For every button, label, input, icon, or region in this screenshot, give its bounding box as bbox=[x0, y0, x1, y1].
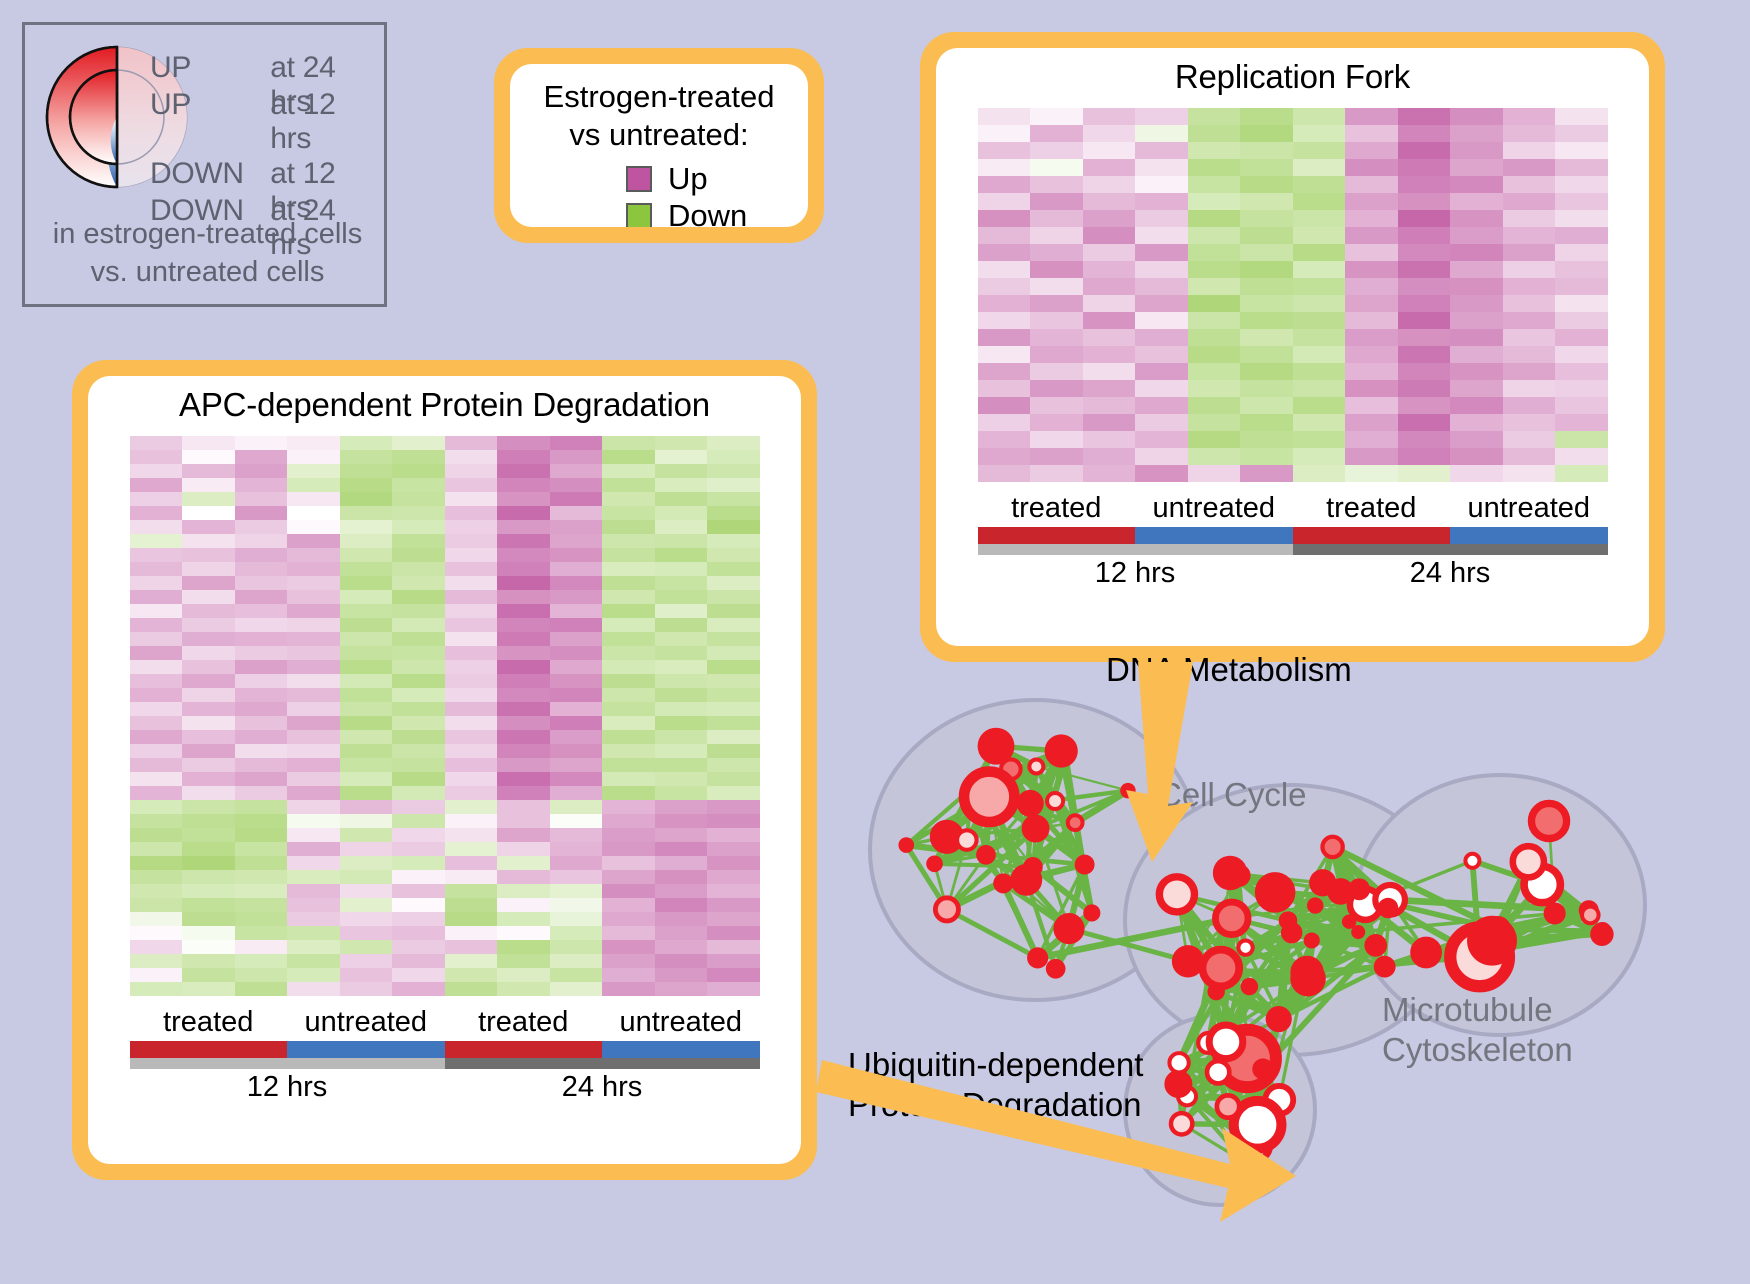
sample-label: untreated bbox=[287, 1006, 445, 1039]
heatmap-column bbox=[550, 436, 603, 996]
heatmap-cell bbox=[1345, 176, 1398, 193]
network-node[interactable] bbox=[1083, 904, 1100, 921]
heatmap-cell bbox=[602, 464, 655, 478]
heatmap-cell bbox=[1188, 465, 1241, 482]
network-node[interactable] bbox=[1378, 898, 1398, 918]
sample-label: treated bbox=[130, 1006, 288, 1039]
heatmap-cell bbox=[1398, 159, 1451, 176]
heatmap-cell bbox=[182, 730, 235, 744]
treatment-bar bbox=[1450, 527, 1608, 544]
heatmap-cell bbox=[550, 730, 603, 744]
heatmap-cell bbox=[1083, 193, 1136, 210]
network-node[interactable] bbox=[1307, 897, 1323, 913]
network-node[interactable] bbox=[1413, 939, 1439, 965]
heatmap-cell bbox=[550, 744, 603, 758]
network-node[interactable] bbox=[1167, 1072, 1190, 1095]
heatmap-cell bbox=[235, 632, 288, 646]
heatmap-cell bbox=[1030, 448, 1083, 465]
heatmap-cell bbox=[1555, 465, 1608, 482]
heatmap-cell bbox=[1188, 346, 1241, 363]
heatmap-cell bbox=[392, 646, 445, 660]
heatmap-cell bbox=[497, 688, 550, 702]
heatmap-cell bbox=[340, 562, 393, 576]
network-node[interactable] bbox=[898, 837, 914, 853]
heatmap-column bbox=[1555, 108, 1608, 482]
heatmap-cell bbox=[235, 548, 288, 562]
heatmap-cell bbox=[445, 744, 498, 758]
heatmap-cell bbox=[550, 646, 603, 660]
network-node[interactable] bbox=[1342, 914, 1356, 928]
heatmap-column bbox=[1293, 108, 1346, 482]
heatmap-cell bbox=[1083, 278, 1136, 295]
heatmap-cell bbox=[445, 702, 498, 716]
heatmap-cell bbox=[130, 898, 183, 912]
heatmap-cell bbox=[235, 772, 288, 786]
heatmap-cell bbox=[1503, 431, 1556, 448]
network-node[interactable] bbox=[1022, 815, 1050, 843]
heatmap-cell bbox=[287, 464, 340, 478]
heatmap-cell bbox=[550, 660, 603, 674]
heatmap-cell bbox=[1555, 448, 1608, 465]
heatmap-cell bbox=[340, 968, 393, 982]
apc-treatment-bars bbox=[130, 1041, 760, 1058]
heatmap-cell bbox=[1398, 346, 1451, 363]
network-node[interactable] bbox=[1053, 913, 1084, 944]
heatmap-cell bbox=[182, 800, 235, 814]
heatmap-cell bbox=[550, 436, 603, 450]
network-node[interactable] bbox=[1019, 792, 1041, 814]
heatmap-cell bbox=[497, 478, 550, 492]
network-node[interactable] bbox=[1209, 1025, 1243, 1059]
network-node[interactable] bbox=[1217, 1095, 1239, 1117]
heatmap-cell bbox=[287, 660, 340, 674]
heatmap-cell bbox=[550, 534, 603, 548]
heatmap-cell bbox=[130, 576, 183, 590]
heatmap-cell bbox=[1555, 210, 1608, 227]
heatmap-cell bbox=[1188, 363, 1241, 380]
heatmap-cell bbox=[287, 688, 340, 702]
heatmap-cell bbox=[1083, 244, 1136, 261]
heatmap-cell bbox=[1240, 125, 1293, 142]
heatmap-cell bbox=[1083, 346, 1136, 363]
network-node[interactable] bbox=[1590, 923, 1613, 946]
network-node[interactable] bbox=[1171, 1113, 1192, 1134]
heatmap-cell bbox=[602, 954, 655, 968]
heatmap-cell bbox=[392, 814, 445, 828]
heatmap-cell bbox=[1345, 380, 1398, 397]
heatmap-cell bbox=[1135, 465, 1188, 482]
heatmap-cell bbox=[1083, 159, 1136, 176]
heatmap-cell bbox=[1555, 363, 1608, 380]
network-node[interactable] bbox=[1023, 857, 1043, 877]
heatmap-cell bbox=[655, 898, 708, 912]
key-word-up-12: UP bbox=[150, 88, 270, 122]
network-node-circle bbox=[1364, 934, 1387, 957]
heatmap-cell bbox=[392, 982, 445, 996]
heatmap-cell bbox=[392, 800, 445, 814]
heatmap-cell bbox=[550, 940, 603, 954]
heatmap-cell bbox=[182, 534, 235, 548]
heatmap-cell bbox=[287, 954, 340, 968]
heatmap-cell bbox=[497, 562, 550, 576]
heatmap-cell bbox=[235, 982, 288, 996]
network-node[interactable] bbox=[1077, 857, 1093, 873]
network-node-circle bbox=[1252, 1058, 1273, 1079]
heatmap-cell bbox=[340, 800, 393, 814]
heatmap-cell bbox=[655, 688, 708, 702]
heatmap-cell bbox=[978, 227, 1031, 244]
heatmap-cell bbox=[655, 954, 708, 968]
heatmap-cell bbox=[1293, 448, 1346, 465]
network-node[interactable] bbox=[1546, 904, 1564, 922]
heatmap-cell bbox=[1450, 108, 1503, 125]
heatmap-cell bbox=[550, 828, 603, 842]
apc-degradation-title: APC-dependent Protein Degradation bbox=[88, 386, 801, 424]
heatmap-cell bbox=[392, 744, 445, 758]
heatmap-cell bbox=[392, 898, 445, 912]
network-node[interactable] bbox=[1202, 950, 1239, 987]
heatmap-cell bbox=[130, 842, 183, 856]
heatmap-cell bbox=[707, 814, 760, 828]
network-node-circle bbox=[1047, 793, 1063, 809]
heatmap-cell bbox=[707, 464, 760, 478]
heatmap-cell bbox=[235, 926, 288, 940]
heatmap-cell bbox=[1240, 397, 1293, 414]
heatmap-cell bbox=[1083, 108, 1136, 125]
heatmap-cell bbox=[1135, 448, 1188, 465]
heatmap-cell bbox=[1555, 108, 1608, 125]
heatmap-cell bbox=[287, 744, 340, 758]
heatmap-cell bbox=[1030, 261, 1083, 278]
network-node[interactable] bbox=[1582, 907, 1599, 924]
heatmap-cell bbox=[1398, 380, 1451, 397]
heatmap-cell bbox=[235, 618, 288, 632]
network-node[interactable] bbox=[1272, 1010, 1291, 1029]
heatmap-cell bbox=[392, 618, 445, 632]
heatmap-cell bbox=[392, 436, 445, 450]
heatmap-cell bbox=[602, 604, 655, 618]
heatmap-cell bbox=[602, 492, 655, 506]
heatmap-cell bbox=[1555, 125, 1608, 142]
heatmap-cell bbox=[287, 898, 340, 912]
heatmap-cell bbox=[1503, 278, 1556, 295]
heatmap-cell bbox=[602, 716, 655, 730]
heatmap-cell bbox=[1398, 329, 1451, 346]
heatmap-cell bbox=[1450, 261, 1503, 278]
network-svg bbox=[820, 620, 1750, 1279]
heatmap-cell bbox=[1555, 176, 1608, 193]
network-node[interactable] bbox=[926, 855, 943, 872]
apc-time-bars bbox=[130, 1058, 760, 1069]
heatmap-cell bbox=[392, 478, 445, 492]
heatmap-cell bbox=[392, 772, 445, 786]
heatmap-cell bbox=[707, 688, 760, 702]
heatmap-cell bbox=[707, 520, 760, 534]
heatmap-cell bbox=[1398, 363, 1451, 380]
network-node[interactable] bbox=[1169, 1053, 1188, 1072]
network-node[interactable] bbox=[1159, 877, 1194, 912]
heatmap-cell bbox=[497, 646, 550, 660]
heatmap-cell bbox=[1450, 142, 1503, 159]
network-node[interactable] bbox=[1238, 940, 1252, 954]
heatmap-cell bbox=[392, 464, 445, 478]
heatmap-cell bbox=[130, 464, 183, 478]
heatmap-cell bbox=[445, 492, 498, 506]
heatmap-cell bbox=[392, 758, 445, 772]
heatmap-cell bbox=[130, 982, 183, 996]
heatmap-cell bbox=[1030, 329, 1083, 346]
heatmap-cell bbox=[1503, 346, 1556, 363]
heatmap-cell bbox=[1503, 108, 1556, 125]
heatmap-cell bbox=[655, 576, 708, 590]
heatmap-cell bbox=[707, 828, 760, 842]
heatmap-cell bbox=[602, 702, 655, 716]
heatmap-cell bbox=[1398, 261, 1451, 278]
sample-label: treated bbox=[978, 492, 1136, 525]
heatmap-cell bbox=[655, 926, 708, 940]
network-node[interactable] bbox=[1241, 978, 1258, 995]
replication-fork-time-labels: 12 hrs24 hrs bbox=[978, 557, 1608, 590]
heatmap-cell bbox=[130, 520, 183, 534]
network-node[interactable] bbox=[1228, 864, 1251, 887]
heatmap-cell bbox=[497, 968, 550, 982]
network-node[interactable] bbox=[1364, 934, 1387, 957]
network-node[interactable] bbox=[978, 847, 994, 863]
network-node[interactable] bbox=[1465, 854, 1479, 868]
heatmap-cell bbox=[1503, 142, 1556, 159]
heatmap-cell bbox=[707, 744, 760, 758]
heatmap-cell bbox=[392, 842, 445, 856]
heatmap-cell bbox=[287, 786, 340, 800]
network-node-circle bbox=[978, 847, 994, 863]
heatmap-cell bbox=[1083, 210, 1136, 227]
heatmap-cell bbox=[707, 772, 760, 786]
heatmap-cell bbox=[1345, 397, 1398, 414]
heatmap-cell bbox=[182, 548, 235, 562]
heatmap-cell bbox=[340, 702, 393, 716]
heatmap-cell bbox=[550, 450, 603, 464]
heatmap-cell bbox=[340, 674, 393, 688]
heatmap-cell bbox=[445, 982, 498, 996]
heatmap-cell bbox=[287, 758, 340, 772]
heatmap-cell bbox=[1135, 380, 1188, 397]
heatmap-cell bbox=[655, 562, 708, 576]
heatmap-cell bbox=[287, 646, 340, 660]
heatmap-cell bbox=[978, 329, 1031, 346]
heatmap-cell bbox=[1030, 431, 1083, 448]
network-node[interactable] bbox=[993, 873, 1013, 893]
heatmap-cell bbox=[340, 772, 393, 786]
heatmap-cell bbox=[182, 940, 235, 954]
heatmap-cell bbox=[445, 548, 498, 562]
heatmap-cell bbox=[1555, 312, 1608, 329]
heatmap-cell bbox=[1555, 346, 1608, 363]
heatmap-cell bbox=[392, 870, 445, 884]
network-node[interactable] bbox=[1068, 815, 1083, 830]
network-node[interactable] bbox=[1029, 759, 1043, 773]
network-node-circle bbox=[1582, 907, 1599, 924]
heatmap-cell bbox=[550, 968, 603, 982]
heatmap-cell bbox=[340, 492, 393, 506]
network-node-circle bbox=[1237, 1154, 1253, 1170]
heatmap-cell bbox=[655, 982, 708, 996]
heatmap-cell bbox=[235, 898, 288, 912]
heatmap-cell bbox=[707, 716, 760, 730]
heatmap-column bbox=[602, 436, 655, 996]
network-node[interactable] bbox=[1027, 947, 1048, 968]
heatmap-cell bbox=[445, 926, 498, 940]
heatmap-cell bbox=[1503, 125, 1556, 142]
heatmap-cell bbox=[1293, 312, 1346, 329]
legend-swatch-down-icon bbox=[626, 203, 652, 228]
heatmap-cell bbox=[340, 618, 393, 632]
treatment-bar bbox=[602, 1041, 760, 1058]
heatmap-cell bbox=[707, 674, 760, 688]
heatmap-cell bbox=[655, 534, 708, 548]
heatmap-cell bbox=[287, 534, 340, 548]
heatmap-column bbox=[1503, 108, 1556, 482]
heatmap-cell bbox=[340, 828, 393, 842]
network-node[interactable] bbox=[935, 898, 958, 921]
heatmap-cell bbox=[130, 814, 183, 828]
heatmap-cell bbox=[1240, 227, 1293, 244]
heatmap-cell bbox=[1030, 193, 1083, 210]
heatmap-cell bbox=[602, 646, 655, 660]
heatmap-cell bbox=[978, 295, 1031, 312]
color-key-rows: UP at 24 hrs UP at 12 hrs DOWN at 12 hrs… bbox=[150, 51, 380, 231]
heatmap-cell bbox=[1398, 414, 1451, 431]
heatmap-cell bbox=[235, 464, 288, 478]
heatmap-cell bbox=[340, 646, 393, 660]
heatmap-cell bbox=[130, 758, 183, 772]
time-bar bbox=[445, 1058, 760, 1069]
heatmap-cell bbox=[182, 744, 235, 758]
network-node-circle bbox=[1022, 815, 1050, 843]
heatmap-cell bbox=[1240, 261, 1293, 278]
network-node[interactable] bbox=[1059, 746, 1075, 762]
legend-item-up: Up bbox=[626, 160, 798, 197]
heatmap-cell bbox=[340, 436, 393, 450]
heatmap-cell bbox=[550, 520, 603, 534]
heatmap-cell bbox=[707, 800, 760, 814]
network-node[interactable] bbox=[957, 830, 977, 850]
network-node[interactable] bbox=[1237, 1154, 1253, 1170]
heatmap-cell bbox=[130, 800, 183, 814]
heatmap-cell bbox=[1450, 244, 1503, 261]
network-node[interactable] bbox=[1348, 878, 1370, 900]
network-node-circle bbox=[1272, 1010, 1291, 1029]
heatmap-cell bbox=[550, 912, 603, 926]
heatmap-cell bbox=[182, 576, 235, 590]
heatmap-cell bbox=[287, 548, 340, 562]
network-node-circle bbox=[1228, 864, 1251, 887]
heatmap-cell bbox=[602, 926, 655, 940]
network-node[interactable] bbox=[1046, 959, 1066, 979]
network-node[interactable] bbox=[964, 772, 1014, 822]
network-node[interactable] bbox=[1322, 837, 1342, 857]
heatmap-cell bbox=[287, 520, 340, 534]
network-node-circle bbox=[926, 855, 943, 872]
network-node[interactable] bbox=[1047, 793, 1063, 809]
heatmap-cell bbox=[235, 870, 288, 884]
heatmap-cell bbox=[1503, 448, 1556, 465]
heatmap-cell bbox=[445, 842, 498, 856]
heatmap-cell bbox=[1555, 227, 1608, 244]
heatmap-cell bbox=[1135, 414, 1188, 431]
heatmap-cell bbox=[340, 450, 393, 464]
heatmap-cell bbox=[497, 758, 550, 772]
network-node-circle bbox=[1217, 1095, 1239, 1117]
network-node[interactable] bbox=[1374, 956, 1396, 978]
heatmap-cell bbox=[1188, 414, 1241, 431]
heatmap-cell bbox=[182, 688, 235, 702]
heatmap-cell bbox=[445, 534, 498, 548]
heatmap-cell bbox=[130, 828, 183, 842]
heatmap-cell bbox=[497, 856, 550, 870]
network-node[interactable] bbox=[1279, 911, 1298, 930]
heatmap-cell bbox=[1398, 125, 1451, 142]
network-node[interactable] bbox=[1304, 932, 1320, 948]
network-node[interactable] bbox=[1513, 846, 1544, 877]
heatmap-cell bbox=[978, 448, 1031, 465]
legend-label-up: Up bbox=[668, 161, 708, 197]
heatmap-cell bbox=[1450, 295, 1503, 312]
color-key-caption: in estrogen-treated cells vs. untreated … bbox=[25, 215, 390, 291]
heatmap-cell bbox=[1030, 244, 1083, 261]
sample-label: untreated bbox=[1135, 492, 1293, 525]
network-node[interactable] bbox=[1207, 1061, 1229, 1083]
heatmap-cell bbox=[1293, 108, 1346, 125]
network-node[interactable] bbox=[1531, 803, 1566, 838]
heatmap-cell bbox=[235, 954, 288, 968]
heatmap-cell bbox=[1188, 295, 1241, 312]
heatmap-cell bbox=[655, 968, 708, 982]
heatmap-cell bbox=[1240, 346, 1293, 363]
heatmap-cell bbox=[602, 842, 655, 856]
time-bar bbox=[978, 544, 1293, 555]
heatmap-cell bbox=[497, 814, 550, 828]
heatmap-cell bbox=[497, 730, 550, 744]
heatmap-cell bbox=[550, 506, 603, 520]
heatmap-cell bbox=[1030, 363, 1083, 380]
network-node-circle bbox=[1465, 854, 1479, 868]
network-node[interactable] bbox=[1258, 876, 1292, 910]
network-node[interactable] bbox=[1290, 961, 1325, 996]
heatmap-cell bbox=[602, 618, 655, 632]
network-node[interactable] bbox=[1467, 916, 1517, 966]
heatmap-cell bbox=[130, 562, 183, 576]
heatmap-cell bbox=[550, 604, 603, 618]
network-node[interactable] bbox=[1215, 902, 1248, 935]
network-node-circle bbox=[1202, 950, 1239, 987]
heatmap-cell bbox=[655, 744, 708, 758]
heatmap-cell bbox=[340, 954, 393, 968]
heatmap-cell bbox=[1345, 159, 1398, 176]
heatmap-column bbox=[130, 436, 183, 996]
network-node[interactable] bbox=[1309, 869, 1336, 896]
network-node[interactable] bbox=[1120, 783, 1135, 798]
heatmap-cell bbox=[340, 464, 393, 478]
heatmap-cell bbox=[1555, 142, 1608, 159]
heatmap-cell bbox=[392, 786, 445, 800]
heatmap-cell bbox=[1083, 448, 1136, 465]
heatmap-cell bbox=[235, 912, 288, 926]
network-node[interactable] bbox=[1252, 1058, 1273, 1079]
heatmap-cell bbox=[707, 940, 760, 954]
heatmap-cell bbox=[445, 464, 498, 478]
heatmap-cell bbox=[1188, 312, 1241, 329]
heatmap-cell bbox=[1503, 414, 1556, 431]
